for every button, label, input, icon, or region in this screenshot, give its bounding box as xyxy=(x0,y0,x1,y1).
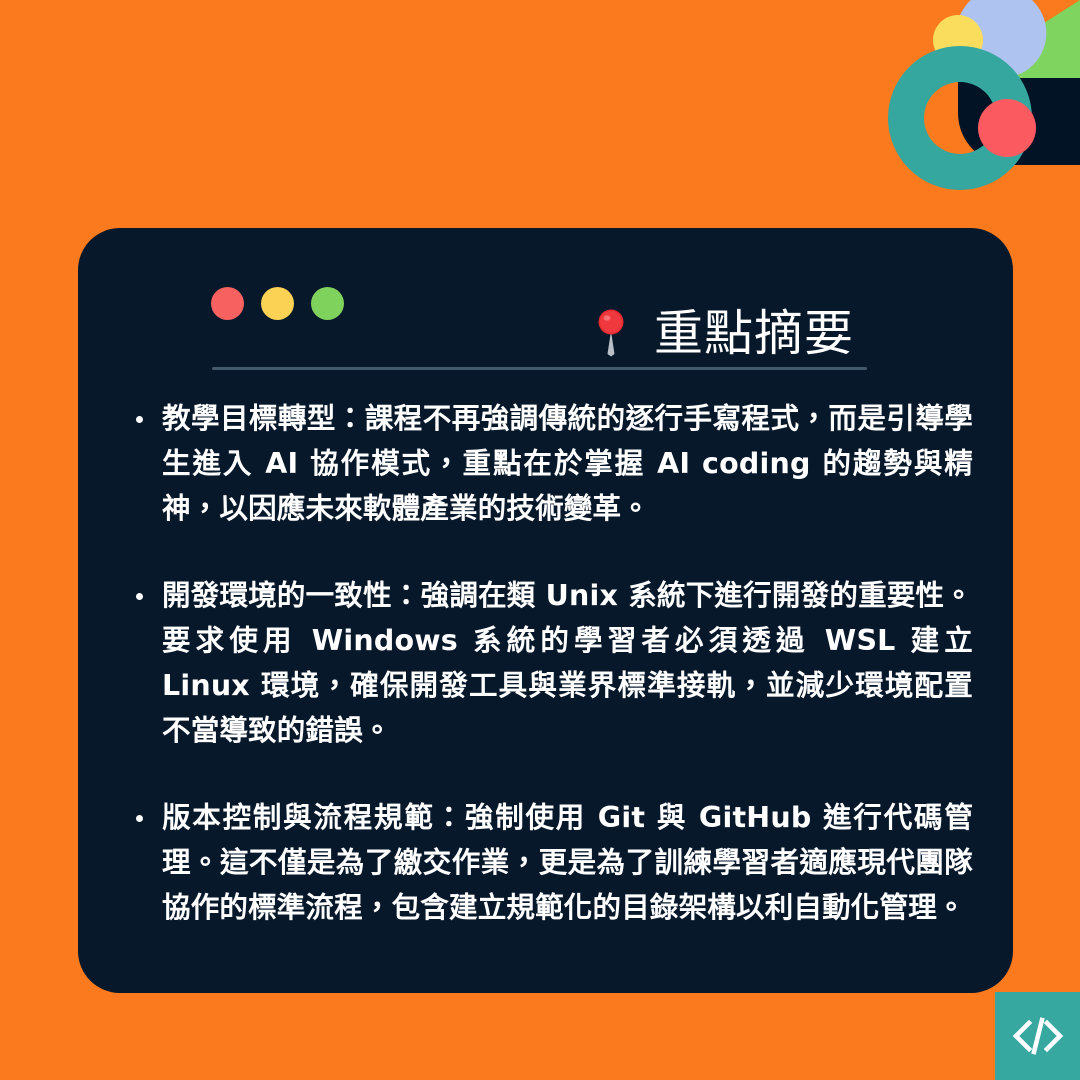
round-pushpin-icon xyxy=(598,309,624,357)
list-item: 教學目標轉型：課程不再強調傳統的逐行手寫程式，而是引導學生進入 AI 協作模式，… xyxy=(134,396,973,531)
maximize-dot[interactable] xyxy=(311,287,344,320)
yellow-dot-icon xyxy=(933,15,983,65)
header-divider xyxy=(212,367,867,370)
decorative-shape-cluster xyxy=(850,0,1080,215)
card-body: 教學目標轉型：課程不再強調傳統的逐行手寫程式，而是引導學生進入 AI 協作模式，… xyxy=(78,396,1013,930)
list-item: 開發環境的一致性：強調在類 Unix 系統下進行開發的重要性。要求使用 Wind… xyxy=(134,573,973,753)
code-badge[interactable] xyxy=(995,992,1080,1080)
card-title-group: 重點摘要 xyxy=(598,276,854,391)
summary-card: 重點摘要 教學目標轉型：課程不再強調傳統的逐行手寫程式，而是引導學生進入 AI … xyxy=(78,228,1013,993)
blue-teardrop-icon xyxy=(956,0,1046,78)
close-dot[interactable] xyxy=(211,287,244,320)
window-controls xyxy=(211,287,344,320)
red-circle-icon xyxy=(978,99,1036,157)
green-triangle-icon xyxy=(958,0,1080,78)
code-brackets-icon xyxy=(1012,1015,1064,1057)
list-item: 版本控制與流程規範：強制使用 Git 與 GitHub 進行代碼管理。這不僅是為… xyxy=(134,795,973,930)
dark-blob-icon xyxy=(958,78,1080,165)
card-header: 重點摘要 xyxy=(78,228,1013,356)
teal-donut-icon xyxy=(888,46,1032,190)
minimize-dot[interactable] xyxy=(261,287,294,320)
summary-bullet-list: 教學目標轉型：課程不再強調傳統的逐行手寫程式，而是引導學生進入 AI 協作模式，… xyxy=(134,396,973,930)
page-title: 重點摘要 xyxy=(654,309,854,358)
